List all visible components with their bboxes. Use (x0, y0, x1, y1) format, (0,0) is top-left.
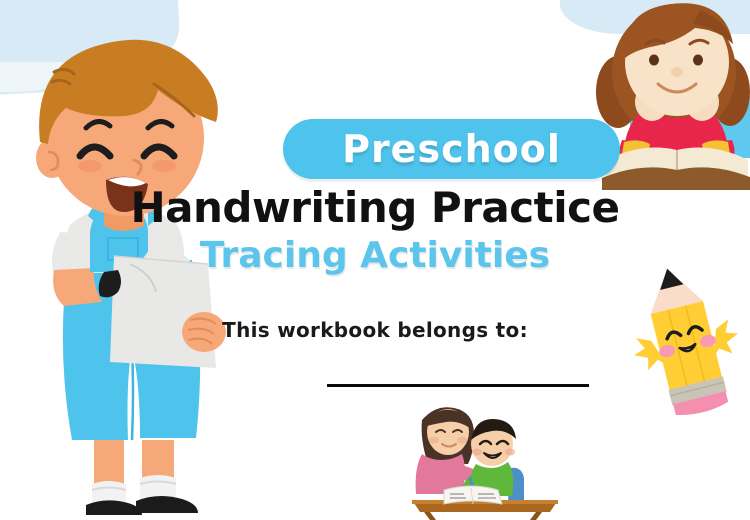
workbook-cover-page: Preschool Handwriting Practice Tracing A… (0, 0, 750, 520)
cover-text-block: Preschool Handwriting Practice Tracing A… (0, 0, 750, 420)
name-write-in-line[interactable] (327, 384, 589, 387)
mother-and-child-writing-illustration (398, 404, 568, 520)
page-subtitle: Tracing Activities (0, 236, 750, 276)
preschool-label: Preschool (283, 119, 620, 179)
page-title: Handwriting Practice (0, 185, 750, 231)
belongs-to-label: This workbook belongs to: (0, 318, 750, 342)
